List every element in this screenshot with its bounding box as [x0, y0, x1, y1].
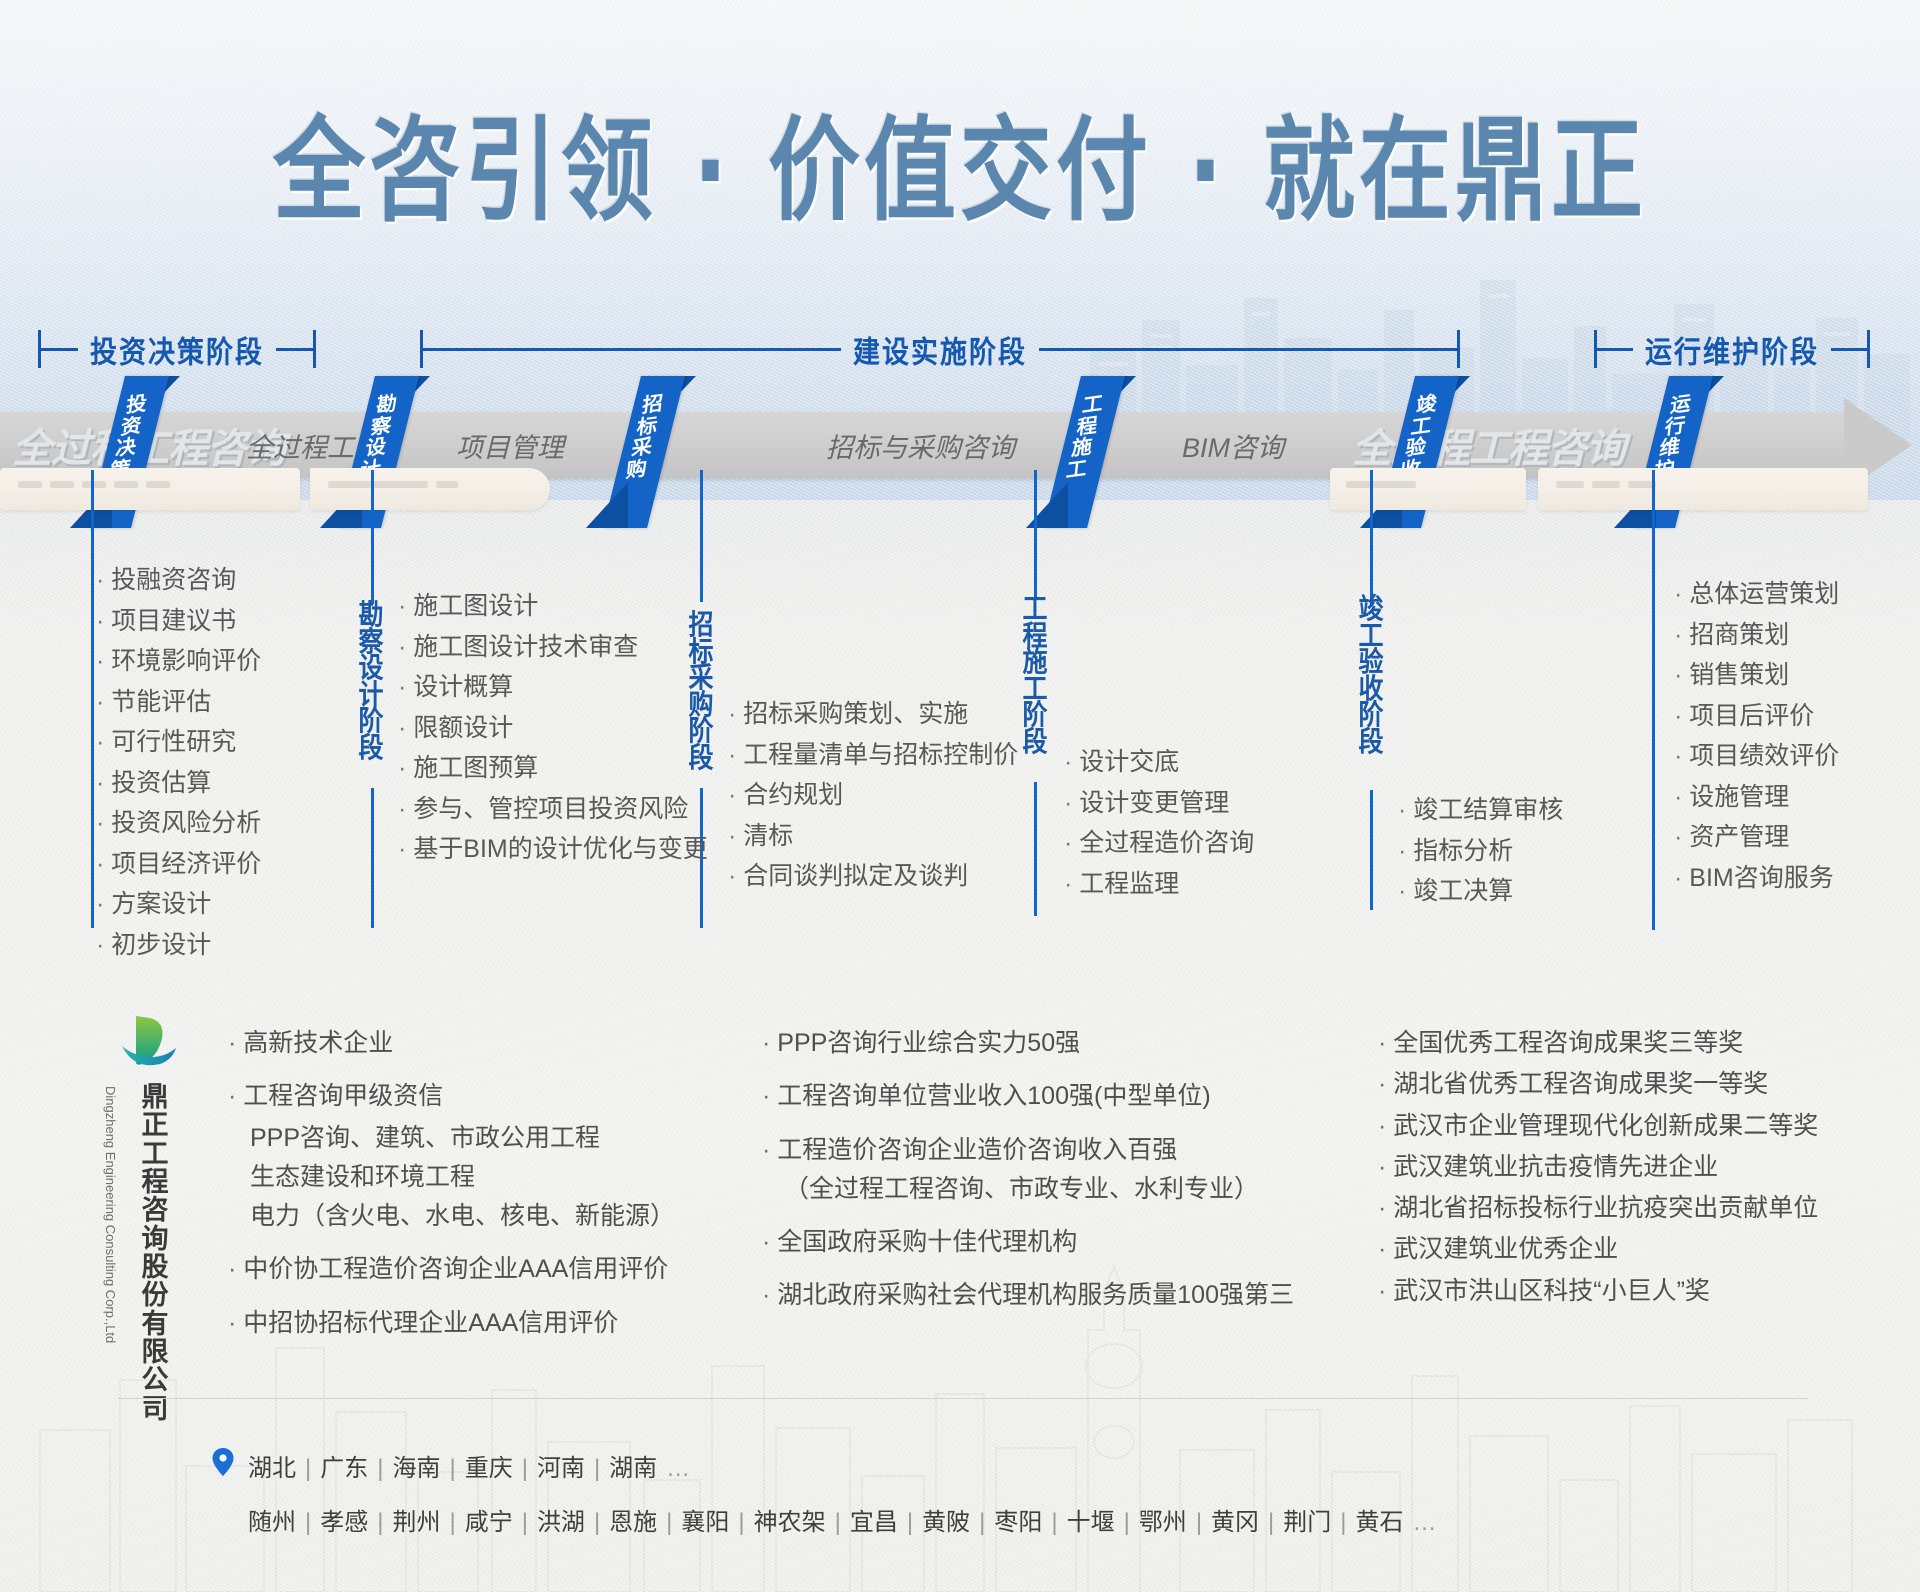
list-item: 施工图预算	[398, 748, 708, 789]
separator: |	[440, 1509, 464, 1536]
list-item: 招商策划	[1674, 615, 1839, 656]
list-item: 销售策划	[1674, 655, 1839, 696]
phase-line-left	[41, 348, 78, 351]
province-label: 湖南	[609, 1455, 657, 1482]
city-label: 枣阳	[994, 1509, 1042, 1536]
plate-window	[146, 481, 170, 488]
phase-label-operation: 运行维护阶段	[1633, 327, 1831, 371]
company-name-cn: 鼎正工程咨询股份有限公司	[138, 1084, 172, 1424]
decorative-plate-4	[1538, 468, 1868, 510]
company-logo-block: 鼎正工程咨询股份有限公司 Dingzheng Engineering Consu…	[120, 1012, 180, 1342]
stage-vtitle-construction: 工程施工阶段	[1020, 596, 1050, 755]
location-pin-icon	[212, 1448, 234, 1476]
plate-window	[1346, 481, 1416, 488]
city-label: 洪湖	[537, 1509, 585, 1536]
list-item: 指标分析	[1398, 831, 1563, 872]
company-name-en: Dingzheng Engineering Consulting Corp.,L…	[103, 1086, 118, 1343]
honor-item: 全国优秀工程咨询成果奖三等奖	[1378, 1028, 1818, 1059]
plate-window	[1592, 481, 1620, 488]
list-item: 方案设计	[96, 884, 261, 925]
province-label: 湖北	[248, 1455, 296, 1482]
phase-cap-right	[1457, 330, 1460, 368]
plate-window	[18, 481, 42, 488]
list-item: 项目后评价	[1674, 696, 1839, 737]
separator: |	[296, 1455, 320, 1482]
separator: |	[1187, 1509, 1211, 1536]
list-item: 初步设计	[96, 925, 261, 966]
list-item: 施工图设计技术审查	[398, 627, 708, 668]
list-item: 施工图设计	[398, 586, 708, 627]
city-label: 黄石	[1356, 1509, 1404, 1536]
list-item: 基于BIM的设计优化与变更	[398, 829, 708, 870]
list-item: 项目建议书	[96, 601, 261, 642]
plate-window	[50, 481, 74, 488]
honor-item: 全国政府采购十佳代理机构	[762, 1227, 1294, 1258]
list-item: 投资风险分析	[96, 803, 261, 844]
connector-line-construction-lower	[1034, 782, 1037, 916]
separator: |	[513, 1455, 537, 1482]
separator: |	[970, 1509, 994, 1536]
separator: |	[729, 1509, 753, 1536]
list-item: 设计概算	[398, 667, 708, 708]
company-logo-icon	[120, 1012, 180, 1074]
phase-header-row: 投资决策阶段 建设实施阶段 运行维护阶段	[0, 326, 1920, 372]
province-label: 河南	[537, 1455, 585, 1482]
honor-item: PPP咨询行业综合实力50强	[762, 1028, 1294, 1059]
city-label: 十堰	[1067, 1509, 1115, 1536]
stage-list-bidding-procurement: 招标采购策划、实施 工程量清单与招标控制价 合约规划 清标 合同谈判拟定及谈判	[728, 694, 1018, 897]
city-label: 神农架	[754, 1509, 826, 1536]
phase-cap-right	[1867, 330, 1870, 368]
phase-label-investment: 投资决策阶段	[78, 327, 276, 371]
phase-line-left	[423, 348, 841, 351]
separator: |	[1042, 1509, 1066, 1536]
phase-bar-operation: 运行维护阶段	[1594, 326, 1870, 372]
city-label: 随州	[248, 1509, 296, 1536]
honor-item: 工程咨询甲级资信	[228, 1081, 675, 1112]
stage-vtitle-acceptance: 竣工验收阶段	[1356, 596, 1386, 755]
ribbon-bidding: 招标采购	[600, 382, 686, 532]
more-ellipsis: …	[657, 1455, 699, 1482]
honor-subitem: 生态建设和环境工程	[228, 1162, 675, 1193]
list-item: 招标采购策划、实施	[728, 694, 1018, 735]
honor-item: 高新技术企业	[228, 1028, 675, 1059]
honor-subitem: （全过程工程咨询、市政专业、水利专业）	[762, 1174, 1294, 1205]
honor-item: 湖北政府采购社会代理机构服务质量100强第三	[762, 1280, 1294, 1311]
honor-subitem: PPP咨询、建筑、市政公用工程	[228, 1123, 675, 1154]
city-label: 荆州	[392, 1509, 440, 1536]
list-item: 工程量清单与招标控制价	[728, 735, 1018, 776]
list-item: 可行性研究	[96, 722, 261, 763]
stage-list-survey-design: 施工图设计 施工图设计技术审查 设计概算 限额设计 施工图预算 参与、管控项目投…	[398, 586, 708, 870]
connector-line-operation	[1652, 470, 1655, 930]
plate-window	[82, 481, 106, 488]
honor-item: 武汉建筑业优秀企业	[1378, 1234, 1818, 1265]
footer-divider	[118, 1398, 1808, 1399]
plate-window	[114, 481, 138, 488]
list-item: 全过程造价咨询	[1064, 823, 1254, 864]
connector-line-survey-lower	[371, 788, 374, 928]
list-item: 环境影响评价	[96, 641, 261, 682]
province-label: 海南	[392, 1455, 440, 1482]
connector-line-acceptance-lower	[1370, 790, 1373, 910]
honor-item: 中招协招标代理企业AAA信用评价	[228, 1308, 675, 1339]
separator: |	[1115, 1509, 1139, 1536]
separator: |	[368, 1455, 392, 1482]
list-item: 资产管理	[1674, 817, 1839, 858]
connector-line-investment	[91, 470, 94, 928]
list-item: 设施管理	[1674, 777, 1839, 818]
stage-list-construction: 设计交底 设计变更管理 全过程造价咨询 工程监理	[1064, 742, 1254, 904]
title-container: 全咨引领 · 价值交付 · 就在鼎正	[0, 80, 1920, 213]
list-item: 清标	[728, 816, 1018, 857]
phase-line-right	[276, 348, 313, 351]
ribbon-fold-bottom	[586, 482, 628, 528]
city-label: 恩施	[609, 1509, 657, 1536]
city-label: 襄阳	[681, 1509, 729, 1536]
connector-line-acceptance	[1370, 470, 1373, 606]
band-service-label-2: 招标与采购咨询	[826, 412, 1015, 478]
city-label: 孝感	[320, 1509, 368, 1536]
ribbon-construction: 工程施工	[1040, 382, 1126, 532]
separator: |	[440, 1455, 464, 1482]
separator: |	[513, 1509, 537, 1536]
list-item: 竣工决算	[1398, 871, 1563, 912]
list-item: 投资估算	[96, 763, 261, 804]
honor-item: 武汉市企业管理现代化创新成果二等奖	[1378, 1111, 1818, 1142]
connector-line-bidding	[700, 470, 703, 602]
list-item: 节能评估	[96, 682, 261, 723]
phase-line-left	[1597, 348, 1633, 351]
honors-column-2: PPP咨询行业综合实力50强 工程咨询单位营业收入100强(中型单位) 工程造价…	[762, 1028, 1294, 1334]
decorative-plate-1	[0, 468, 300, 510]
list-item: 项目经济评价	[96, 844, 261, 885]
list-item: 设计交底	[1064, 742, 1254, 783]
plate-window	[328, 481, 428, 488]
honor-item: 工程造价咨询企业造价咨询收入百强	[762, 1135, 1294, 1166]
city-label: 鄂州	[1139, 1509, 1187, 1536]
list-item: 限额设计	[398, 708, 708, 749]
province-label: 重庆	[465, 1455, 513, 1482]
more-ellipsis: …	[1404, 1509, 1446, 1536]
honors-column-3: 全国优秀工程咨询成果奖三等奖 湖北省优秀工程咨询成果奖一等奖 武汉市企业管理现代…	[1378, 1028, 1818, 1317]
connector-line-survey	[371, 470, 374, 604]
separator: |	[368, 1509, 392, 1536]
phase-line-right	[1039, 348, 1457, 351]
decorative-plate-2	[310, 468, 550, 510]
honor-subitem: 电力（含火电、水电、核电、新能源）	[228, 1201, 675, 1232]
separator: |	[898, 1509, 922, 1536]
separator: |	[826, 1509, 850, 1536]
stage-list-investment: 投融资咨询 项目建议书 环境影响评价 节能评估 可行性研究 投资估算 投资风险分…	[96, 560, 261, 965]
city-label: 黄陂	[922, 1509, 970, 1536]
page-title: 全咨引领 · 价值交付 · 就在鼎正	[273, 80, 1647, 242]
city-label: 黄冈	[1211, 1509, 1259, 1536]
list-item: 项目绩效评价	[1674, 736, 1839, 777]
footer-provinces: 湖北|广东|海南|重庆|河南|湖南…	[248, 1448, 699, 1483]
phase-bar-investment: 投资决策阶段	[38, 326, 316, 372]
separator: |	[296, 1509, 320, 1536]
honors-column-1: 高新技术企业 工程咨询甲级资信 PPP咨询、建筑、市政公用工程 生态建设和环境工…	[228, 1028, 675, 1361]
list-item: 设计变更管理	[1064, 783, 1254, 824]
phase-label-construction: 建设实施阶段	[841, 327, 1039, 371]
honor-item: 湖北省招标投标行业抗疫突出贡献单位	[1378, 1193, 1818, 1224]
separator: |	[585, 1509, 609, 1536]
province-label: 广东	[320, 1455, 368, 1482]
footer-cities: 随州|孝感|荆州|咸宁|洪湖|恩施|襄阳|神农架|宜昌|黄陂|枣阳|十堰|鄂州|…	[248, 1502, 1446, 1537]
decorative-plate-3	[1330, 468, 1526, 510]
phase-line-right	[1831, 348, 1867, 351]
list-item: 合同谈判拟定及谈判	[728, 856, 1018, 897]
city-label: 荆门	[1283, 1509, 1331, 1536]
honor-item: 湖北省优秀工程咨询成果奖一等奖	[1378, 1069, 1818, 1100]
stage-list-acceptance: 竣工结算审核 指标分析 竣工决算	[1398, 790, 1563, 912]
honor-item: 工程咨询单位营业收入100强(中型单位)	[762, 1081, 1294, 1112]
list-item: 总体运营策划	[1674, 574, 1839, 615]
separator: |	[1259, 1509, 1283, 1536]
honor-item: 武汉市洪山区科技“小巨人”奖	[1378, 1276, 1818, 1307]
phase-cap-right	[313, 330, 316, 368]
plate-window	[436, 481, 458, 488]
separator: |	[1331, 1509, 1355, 1536]
list-item: 投融资咨询	[96, 560, 261, 601]
city-label: 宜昌	[850, 1509, 898, 1536]
separator: |	[657, 1509, 681, 1536]
phase-bar-construction: 建设实施阶段	[420, 326, 1460, 372]
plate-window	[1556, 481, 1584, 488]
connector-line-construction	[1034, 470, 1037, 600]
list-item: 合约规划	[728, 775, 1018, 816]
city-label: 咸宁	[465, 1509, 513, 1536]
stage-list-operation: 总体运营策划 招商策划 销售策划 项目后评价 项目绩效评价 设施管理 资产管理 …	[1674, 574, 1839, 898]
list-item: 参与、管控项目投资风险	[398, 789, 708, 830]
separator: |	[585, 1455, 609, 1482]
list-item: 竣工结算审核	[1398, 790, 1563, 831]
stage-vtitle-survey-design: 勘察设计阶段	[356, 602, 386, 761]
honor-item: 中价协工程造价咨询企业AAA信用评价	[228, 1254, 675, 1285]
ribbon-fold-bottom	[1026, 482, 1068, 528]
list-item: BIM咨询服务	[1674, 858, 1839, 899]
honor-item: 武汉建筑业抗击疫情先进企业	[1378, 1152, 1818, 1183]
list-item: 工程监理	[1064, 864, 1254, 905]
band-service-label-3: BIM咨询	[1182, 412, 1284, 478]
